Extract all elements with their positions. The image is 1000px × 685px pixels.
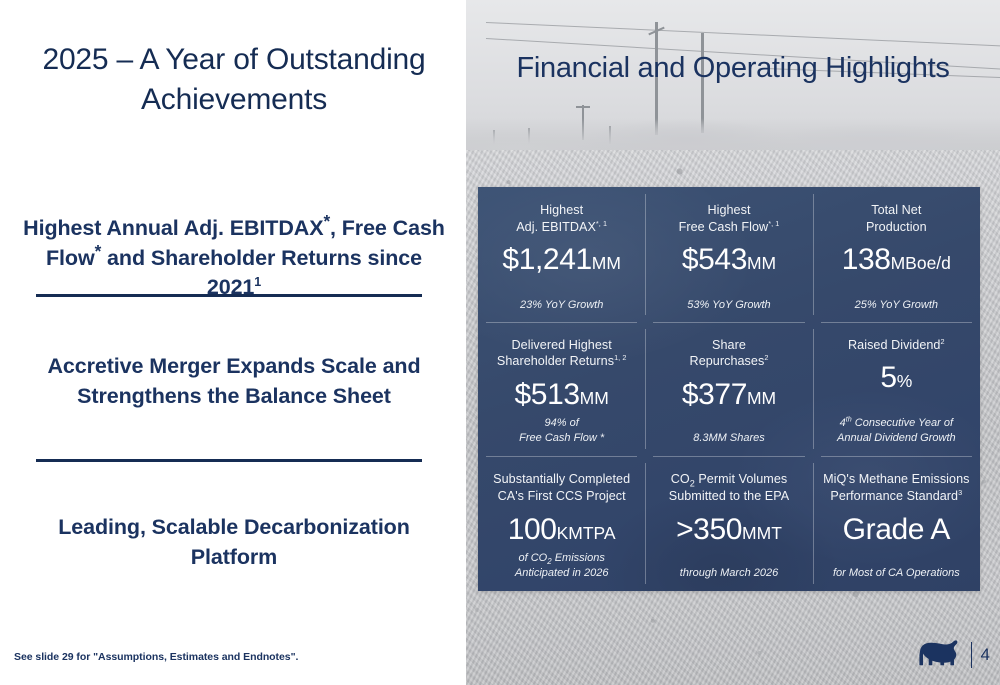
metric-note: 94% ofFree Cash Flow * [519,416,604,448]
metric-label-line1: Total Net [871,203,921,217]
metric-label-superscript: 1, 2 [614,353,626,362]
metric-label: MiQ's Methane Emissions Performance Stan… [823,471,969,504]
metric-value: 100KMTPA [508,514,616,546]
metric-label: Raised Dividend2 [848,337,945,354]
metric-value: Grade A [843,514,950,546]
pillar-statement-1: Highest Annual Adj. EBITDAX*, Free Cash … [22,214,446,303]
metric-label: Substantially Completed CA's First CCS P… [493,471,630,504]
brand-divider [971,642,972,668]
metric-card-shareholder-returns: Delivered Highest Shareholder Returns1, … [478,322,645,457]
metric-value-number: 138 [842,243,891,276]
metric-label-line1: Raised Dividend [848,338,940,352]
metric-value: $513MM [515,379,609,411]
right-pane: Financial and Operating Highlights Highe… [466,0,1000,685]
bear-logo [918,639,962,672]
metric-note-line1: 94% of [545,417,579,429]
metric-value-number: 100 [508,513,557,546]
metric-value-number: $513 [515,378,580,411]
metric-value-number: >350 [676,513,742,546]
metric-label-superscript: *, 1 [768,219,779,228]
metrics-panel: Highest Adj. EBITDAX*, 1 $1,241MM 23% Yo… [478,187,980,591]
metric-label-line2: Repurchases [690,354,765,368]
metric-value-number: $377 [682,378,747,411]
utility-pole-small-crossarm [576,106,590,108]
pillar-1-text-c: and Shareholder Returns since 2021 [101,246,422,300]
metric-note: 4th Consecutive Year ofAnnual Dividend G… [837,416,956,448]
metric-value-unit: MBoe/d [891,253,951,273]
metric-card-share-repurchases: Share Repurchases2 $377MM 8.3MM Shares [645,322,812,457]
metric-value-unit: % [897,371,913,391]
metric-label-line2: Adj. EBITDAX [516,220,596,234]
metric-label-line2: Performance Standard [830,489,958,503]
metric-value: $543MM [682,244,776,276]
metric-note-line1: through March 2026 [680,567,778,579]
metric-note: through March 2026 [680,566,778,583]
pillar-1-text-a: Highest Annual Adj. EBITDAX [23,216,323,240]
metric-value-unit: KMTPA [557,523,616,543]
metric-note: 25% YoY Growth [855,298,938,313]
metric-card-free-cash-flow: Highest Free Cash Flow*, 1 $543MM 53% Yo… [645,187,812,322]
metric-label-superscript: 3 [958,488,962,497]
metric-note-line1: 25% YoY Growth [855,299,938,311]
metric-note: of CO2 EmissionsAnticipated in 2026 [515,551,609,583]
metric-note-line1: of CO2 Emissions [519,552,605,564]
page-number: 4 [981,645,990,665]
metric-label-line1: Highest [707,203,750,217]
slide-footnote: See slide 29 for "Assumptions, Estimates… [14,651,298,663]
metric-label-superscript: 2 [764,353,768,362]
metric-label-superscript: 2 [941,336,945,345]
metric-value: $1,241MM [502,244,621,276]
metric-label: Highest Free Cash Flow*, 1 [679,202,780,235]
metric-note: 53% YoY Growth [687,298,770,313]
metric-note-line2: Anticipated in 2026 [515,567,609,579]
metric-value-number: $543 [682,243,747,276]
slide: 2025 – A Year of Outstanding Achievement… [0,0,1000,685]
metric-value: >350MMT [676,514,782,546]
metric-label: Delivered Highest Shareholder Returns1, … [497,337,627,370]
metric-note-line1: for Most of CA Operations [833,567,960,579]
metric-value: 138MBoe/d [842,244,951,276]
metric-value-number: 5 [880,361,896,394]
metric-label-line2: CA's First CCS Project [498,489,626,503]
metric-value-unit: MMT [742,523,782,543]
metric-value-unit: MM [747,388,776,408]
metric-value: 5% [880,362,912,394]
metric-note-line1: 23% YoY Growth [520,299,603,311]
metric-note: 8.3MM Shares [693,431,765,448]
metric-note: for Most of CA Operations [833,566,960,583]
left-pane: 2025 – A Year of Outstanding Achievement… [0,0,466,685]
metric-value-unit: MM [580,388,609,408]
metric-note-line1: 8.3MM Shares [693,432,765,444]
metric-label: CO2 Permit Volumes Submitted to the EPA [669,471,789,504]
metric-label: Highest Adj. EBITDAX*, 1 [516,202,607,235]
metric-label-line2: Production [866,220,927,234]
metric-value-number: $1,241 [502,243,591,276]
metric-card-ccs-project: Substantially Completed CA's First CCS P… [478,456,645,591]
metric-card-miq-methane-grade: MiQ's Methane Emissions Performance Stan… [813,456,980,591]
metric-card-adj-ebitdax: Highest Adj. EBITDAX*, 1 $1,241MM 23% Yo… [478,187,645,322]
metric-label-line1: MiQ's Methane Emissions [823,472,969,486]
metric-label-line1: Share [712,338,746,352]
metric-note-line1: 53% YoY Growth [687,299,770,311]
metric-note-line2: Free Cash Flow * [519,432,604,444]
metric-label-line1: Substantially Completed [493,472,630,486]
metric-label: Total Net Production [866,202,927,235]
metric-note-line2: Annual Dividend Growth [837,432,956,444]
metric-card-total-net-production: Total Net Production 138MBoe/d 25% YoY G… [813,187,980,322]
metric-card-raised-dividend: Raised Dividend2 5% 4th Consecutive Year… [813,322,980,457]
slide-title: 2025 – A Year of Outstanding Achievement… [22,40,446,119]
pillar-statement-2: Accretive Merger Expands Scale and Stren… [22,352,446,411]
metric-value: $377MM [682,379,776,411]
metric-label-line2: Submitted to the EPA [669,489,789,503]
metric-value-number: Grade A [843,513,950,546]
metric-label-line1: CO2 Permit Volumes [671,472,788,486]
divider-rule-2 [36,459,422,462]
metric-note-line1: 4th Consecutive Year of [840,417,953,429]
footer-brand: 4 [918,637,990,673]
metric-value-unit: MM [592,253,621,273]
metric-card-co2-permit-volumes: CO2 Permit Volumes Submitted to the EPA … [645,456,812,591]
metric-label-line1: Delivered Highest [512,338,612,352]
metric-label-line2: Free Cash Flow [679,220,769,234]
divider-rule-1 [36,294,422,297]
metric-label: Share Repurchases2 [690,337,769,370]
metric-note: 23% YoY Growth [520,298,603,313]
panel-title: Financial and Operating Highlights [466,52,1000,85]
metric-label-superscript: *, 1 [596,219,607,228]
pillar-1-footnote-ref: 1 [254,275,261,289]
pillar-statement-3: Leading, Scalable Decarbonization Platfo… [22,513,446,572]
metric-value-unit: MM [747,253,776,273]
metric-label-line1: Highest [540,203,583,217]
metric-label-line2: Shareholder Returns [497,354,614,368]
